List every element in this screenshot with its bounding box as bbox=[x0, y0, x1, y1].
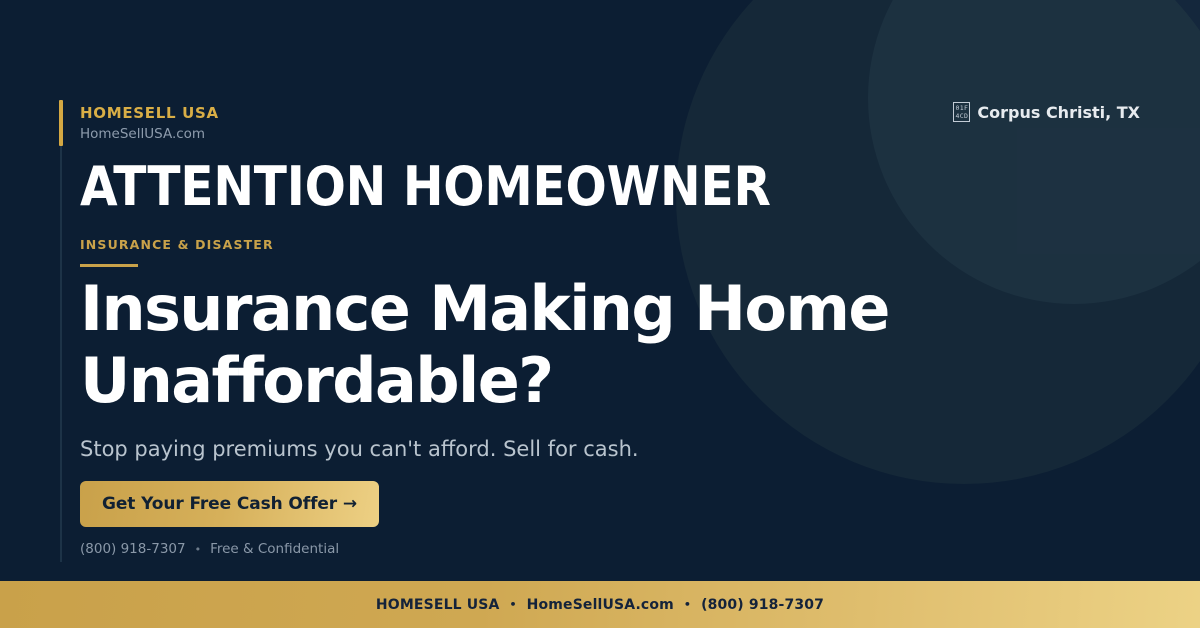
location-badge: 01F 4CD Corpus Christi, TX bbox=[953, 102, 1140, 122]
footer-content: HOMESELL USA • HomeSellUSA.com • (800) 9… bbox=[376, 597, 824, 613]
footer-separator-dot-1: • bbox=[509, 598, 516, 611]
footer-bar: HOMESELL USA • HomeSellUSA.com • (800) 9… bbox=[0, 581, 1200, 628]
location-label: Corpus Christi, TX bbox=[977, 103, 1140, 122]
footer-phone[interactable]: (800) 918-7307 bbox=[701, 597, 824, 613]
eyebrow-label: INSURANCE & DISASTER bbox=[80, 237, 274, 252]
trust-line: (800) 918-7307 • Free & Confidential bbox=[80, 541, 339, 557]
location-pin-icon-codepoint-top: 01F bbox=[956, 104, 969, 112]
headline-line-1: Insurance Making Home bbox=[80, 273, 980, 345]
attention-heading: ATTENTION HOMEOWNER bbox=[80, 158, 771, 216]
brand-block: HOMESELL USA HomeSellUSA.com bbox=[80, 104, 219, 143]
brand-name: HOMESELL USA bbox=[80, 104, 219, 123]
location-pin-icon-codepoint-bottom: 4CD bbox=[956, 112, 969, 120]
eyebrow-block: INSURANCE & DISASTER bbox=[80, 237, 274, 267]
ad-canvas: HOMESELL USA HomeSellUSA.com 01F 4CD Cor… bbox=[0, 0, 1200, 628]
location-pin-icon: 01F 4CD bbox=[953, 102, 970, 122]
content-column: HOMESELL USA HomeSellUSA.com 01F 4CD Cor… bbox=[80, 0, 1140, 581]
headline-line-2: Unaffordable? bbox=[80, 345, 980, 417]
footer-url[interactable]: HomeSellUSA.com bbox=[527, 597, 674, 613]
eyebrow-rule bbox=[80, 264, 138, 267]
left-rail-line bbox=[60, 100, 62, 562]
left-rail-accent bbox=[59, 100, 63, 146]
footer-brand: HOMESELL USA bbox=[376, 597, 500, 613]
trust-note: Free & Confidential bbox=[210, 541, 339, 557]
page-title: Insurance Making Home Unaffordable? bbox=[80, 273, 980, 417]
trust-phone[interactable]: (800) 918-7307 bbox=[80, 541, 186, 557]
get-free-cash-offer-button[interactable]: Get Your Free Cash Offer → bbox=[80, 481, 379, 527]
trust-separator-dot: • bbox=[195, 543, 202, 556]
subheadline: Stop paying premiums you can't afford. S… bbox=[80, 436, 639, 463]
footer-separator-dot-2: • bbox=[684, 598, 691, 611]
brand-url: HomeSellUSA.com bbox=[80, 126, 219, 143]
